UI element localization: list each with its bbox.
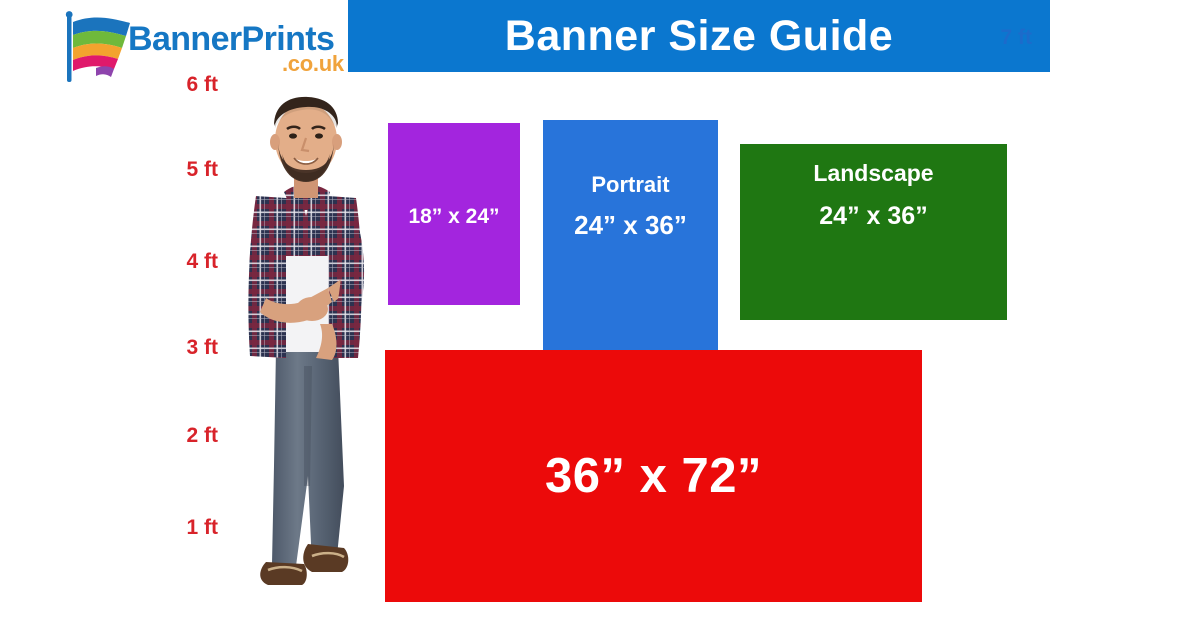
banner-dimensions-label: 18” x 24”	[408, 205, 499, 229]
ruler-label-4ft: 4 ft	[148, 250, 218, 274]
banner-swatch-18x24[interactable]: 18” x 24”	[388, 123, 520, 305]
banner-orientation-label: Landscape	[813, 160, 933, 186]
ruler-label-5ft: 5 ft	[148, 158, 218, 182]
banner-swatch-portrait-24x36[interactable]: Portrait 24” x 36”	[543, 120, 718, 388]
header-bar: Banner Size Guide 7 ft	[348, 0, 1050, 72]
ruler-label-3ft: 3 ft	[148, 336, 218, 360]
banner-swatch-36x72[interactable]: 36” x 72”	[385, 350, 922, 602]
banner-dimensions-label: 24” x 36”	[819, 202, 927, 231]
ruler-label-1ft: 1 ft	[148, 516, 218, 540]
ruler-label-2ft: 2 ft	[148, 424, 218, 448]
person-illustration	[216, 66, 396, 608]
banner-dimensions-label: 24” x 36”	[574, 211, 687, 241]
banner-orientation-label: Portrait	[591, 172, 669, 197]
banner-size-guide-infographic: Banner Size Guide 7 ft BannerPrints .co.…	[0, 0, 1200, 630]
banner-dimensions-label: 36” x 72”	[545, 448, 762, 504]
banner-swatch-landscape-24x36[interactable]: Landscape 24” x 36”	[740, 144, 1007, 320]
ruler-label-6ft: 6 ft	[148, 73, 218, 97]
ruler-label-7ft-ghost: 7 ft	[1001, 26, 1033, 50]
page-title: Banner Size Guide	[348, 0, 1050, 72]
